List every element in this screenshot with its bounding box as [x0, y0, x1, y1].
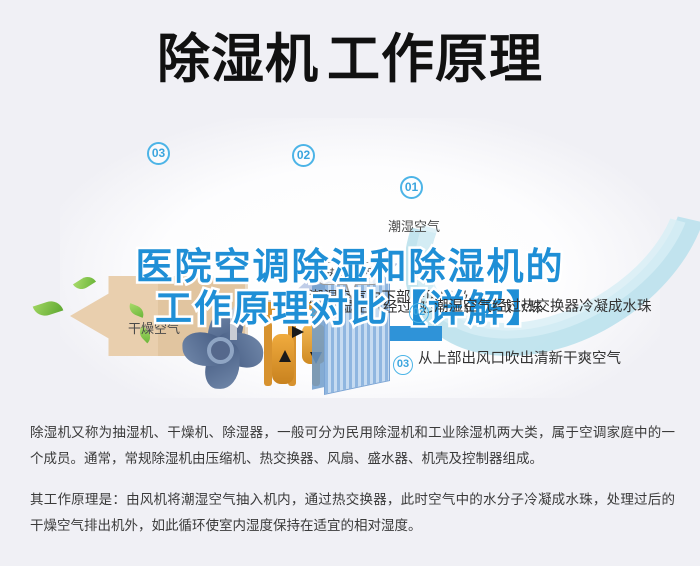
step-badge-01: 01	[400, 176, 423, 199]
article-body: 除湿机又称为抽湿机、干燥机、除湿器，一般可分为民用除湿机和工业除湿机两大类，属于…	[30, 420, 675, 553]
caption-text-02-visible: 潮湿空气经过热交换器冷凝成水珠	[434, 299, 652, 315]
caption-badge-03: 03	[393, 355, 413, 375]
step-badge-03: 03	[147, 142, 170, 165]
page-root: 除湿机工作原理	[0, 0, 700, 566]
refrigerant-pipe	[264, 302, 272, 386]
title-part-2: 工作原理	[327, 30, 543, 89]
caption-line-02-visible: 02潮湿空气经过热交换器冷凝成水珠	[409, 295, 652, 323]
leaf-icon	[33, 298, 64, 319]
step-label-humid-air: 潮湿空气	[388, 216, 440, 235]
caption-line-03: 03从上部出风口吹出清新干爽空气	[393, 347, 621, 375]
step-badge-02: 02	[292, 144, 315, 167]
step-label-dry-air: 干燥空气	[128, 318, 180, 337]
body-paragraph-2: 其工作原理是：由风机将潮湿空气抽入机内，通过热交换器，此时空气中的水分子冷凝成水…	[30, 487, 675, 540]
flow-arrow-right-icon	[292, 326, 304, 338]
flow-arrow-up-icon	[279, 350, 291, 362]
page-title: 除湿机工作原理	[157, 33, 543, 86]
header-title-band: 除湿机工作原理	[0, 0, 700, 118]
caption-badge-02-visible: 02	[409, 303, 429, 323]
title-part-1: 除湿机	[157, 30, 319, 89]
fan-hub	[207, 337, 234, 364]
caption-badge-02: 02	[300, 304, 320, 324]
heat-exchanger-callout: 热交换器	[316, 262, 382, 285]
body-paragraph-1: 除湿机又称为抽湿机、干燥机、除湿器，一般可分为民用除湿机和工业除湿机两大类，属于…	[30, 420, 675, 473]
caption-text-03: 从上部出风口吹出清新干爽空气	[418, 351, 621, 367]
